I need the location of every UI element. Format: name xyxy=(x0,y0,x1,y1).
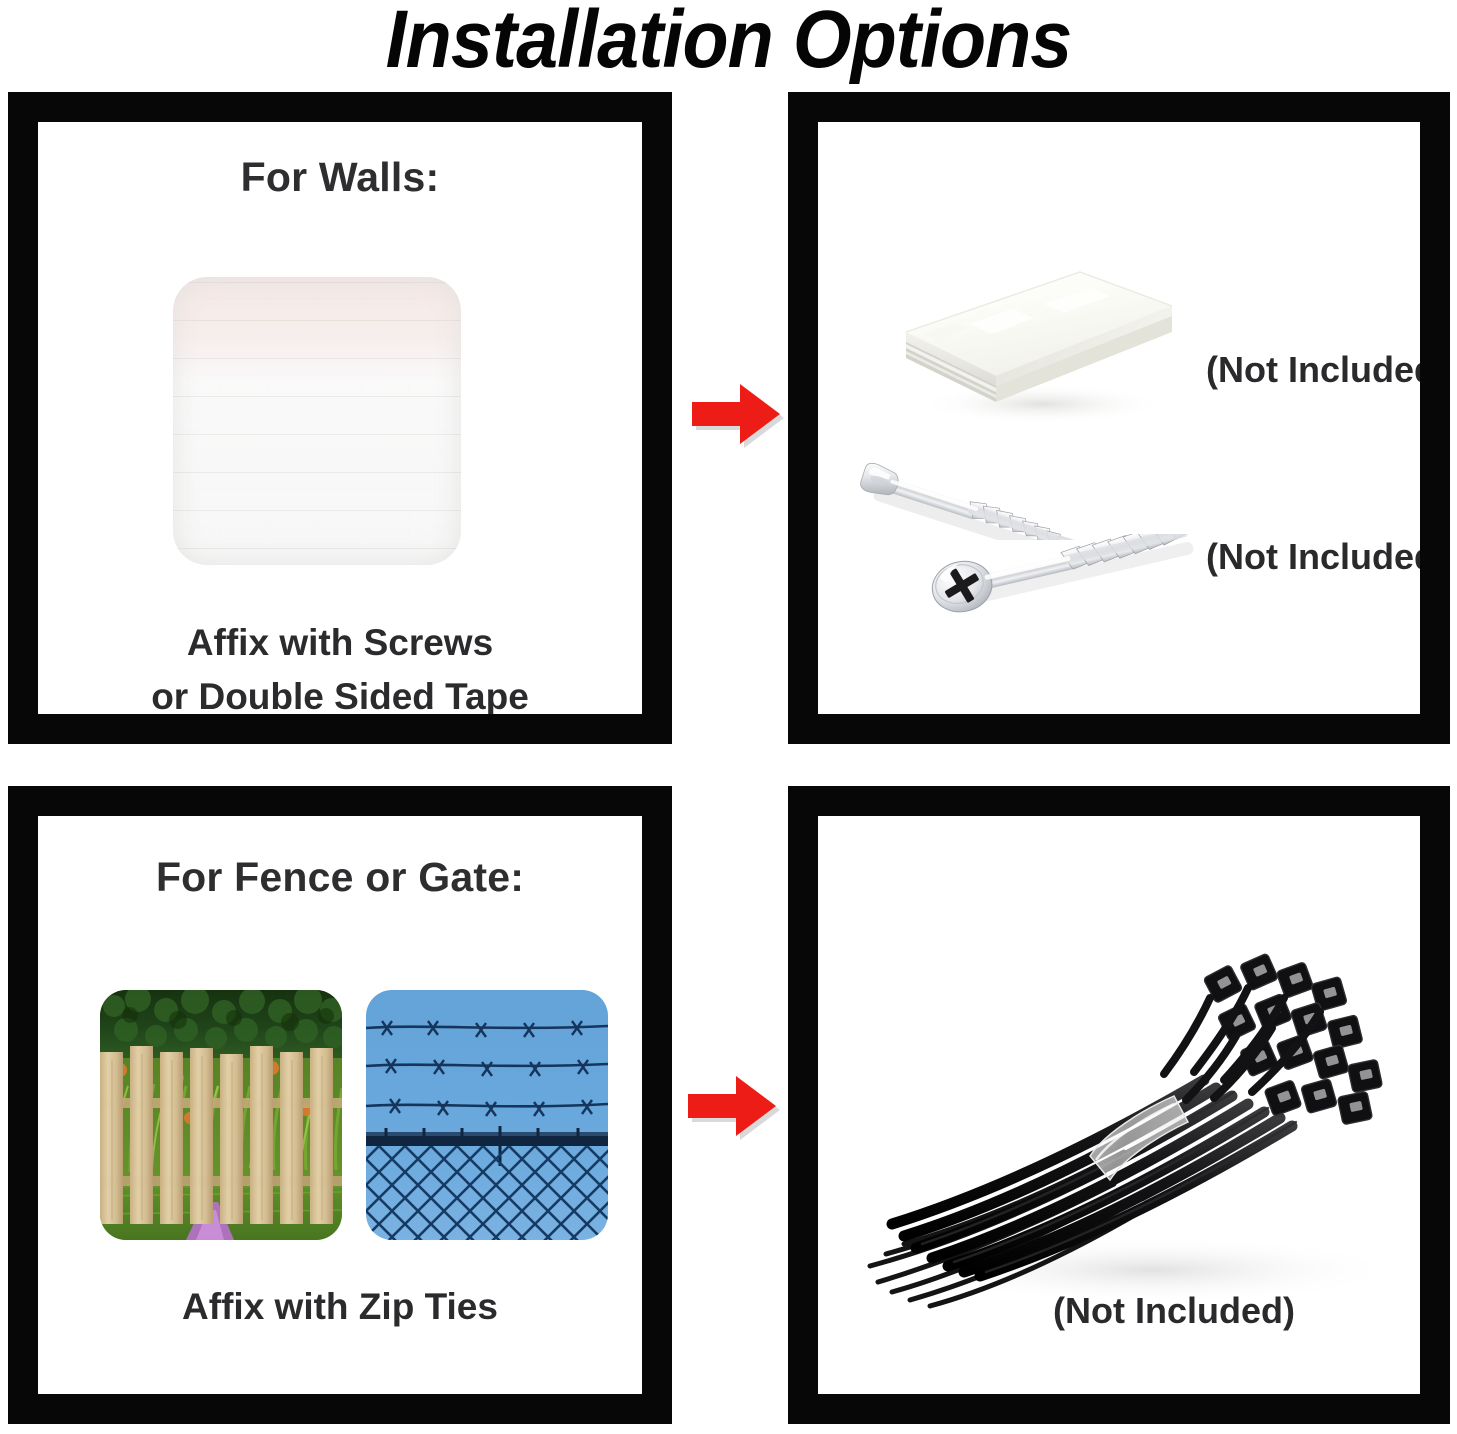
arrow-right-icon xyxy=(684,1070,780,1142)
panel-for-fence-or-gate: For Fence or Gate: xyxy=(8,786,672,1424)
panel-caption-line-2: or Double Sided Tape xyxy=(38,670,642,724)
double-sided-tape-image xyxy=(884,252,1184,428)
wooden-fence-image xyxy=(100,990,342,1240)
panel-fence-hardware: (Not Included) xyxy=(788,786,1450,1424)
wall-surface-image xyxy=(173,277,461,565)
zip-ties-image xyxy=(852,914,1410,1324)
panel-wall-hardware: (Not Included) xyxy=(788,92,1450,744)
screw-image-upper xyxy=(860,462,1128,540)
zip-ties-not-included-label: (Not Included) xyxy=(818,1290,1420,1332)
panel-for-walls: For Walls: Affix with Screws or Double S… xyxy=(8,92,672,744)
screw-not-included-label: (Not Included) xyxy=(1206,536,1448,578)
chain-link-fence-image xyxy=(366,990,608,1240)
panel-heading-for-fence: For Fence or Gate: xyxy=(38,854,642,901)
page-title: Installation Options xyxy=(58,0,1398,86)
panel-caption-fence: Affix with Zip Ties xyxy=(38,1280,642,1334)
panel-heading-for-walls: For Walls: xyxy=(38,154,642,201)
arrow-right-icon xyxy=(688,378,784,450)
tape-not-included-label: (Not Included) xyxy=(1206,349,1448,391)
screw-image-lower xyxy=(930,534,1220,620)
panel-caption-line-1: Affix with Screws xyxy=(38,616,642,670)
